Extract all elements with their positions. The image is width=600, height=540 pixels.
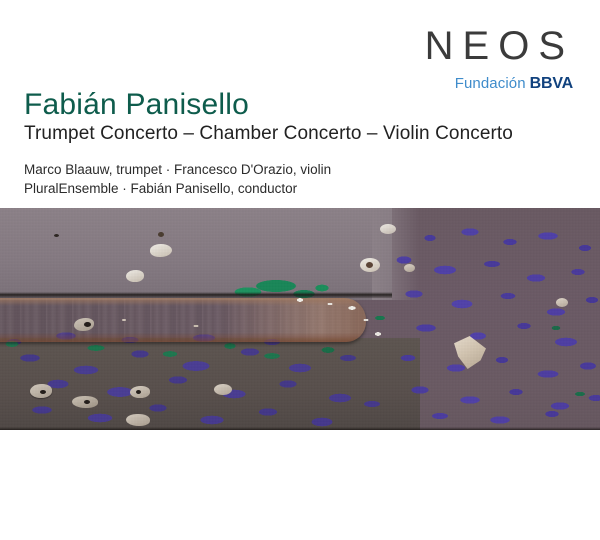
sponsor-prefix-text: Fundación — [455, 75, 526, 92]
label-block: NEOS FundaciónBBVA — [425, 26, 576, 92]
surface-pit — [136, 390, 141, 394]
paint-chip — [404, 264, 415, 272]
paint-chip — [556, 298, 568, 307]
album-cover: NEOS FundaciónBBVA Fabián Panisello Trum… — [0, 0, 600, 540]
surface-pit — [84, 400, 90, 404]
paint-chip — [126, 270, 144, 282]
surface-pit — [40, 390, 46, 394]
works-list: Trumpet Concerto – Chamber Concerto – Vi… — [24, 124, 513, 145]
performer-credits: Marco Blaauw, trumpet · Francesco D'Oraz… — [24, 160, 331, 198]
performer-line: Marco Blaauw, trumpet · Francesco D'Oraz… — [24, 160, 331, 179]
cover-photograph — [0, 208, 600, 430]
surface-pit — [54, 234, 59, 237]
surface-pit — [366, 262, 373, 268]
sponsor-logo: FundaciónBBVA — [425, 76, 576, 92]
sponsor-mark-text: BBVA — [530, 75, 573, 92]
neos-logo: NEOS — [425, 26, 576, 66]
paint-chip — [126, 414, 150, 426]
paint-chip — [380, 224, 396, 234]
surface-pit — [84, 322, 91, 327]
surface-pit — [158, 232, 164, 237]
performer-line: PluralEnsemble · Fabián Panisello, condu… — [24, 179, 331, 198]
paint-chip — [214, 384, 232, 395]
photo-bottom-edge — [0, 427, 600, 430]
composer-name: Fabián Panisello — [24, 88, 249, 121]
